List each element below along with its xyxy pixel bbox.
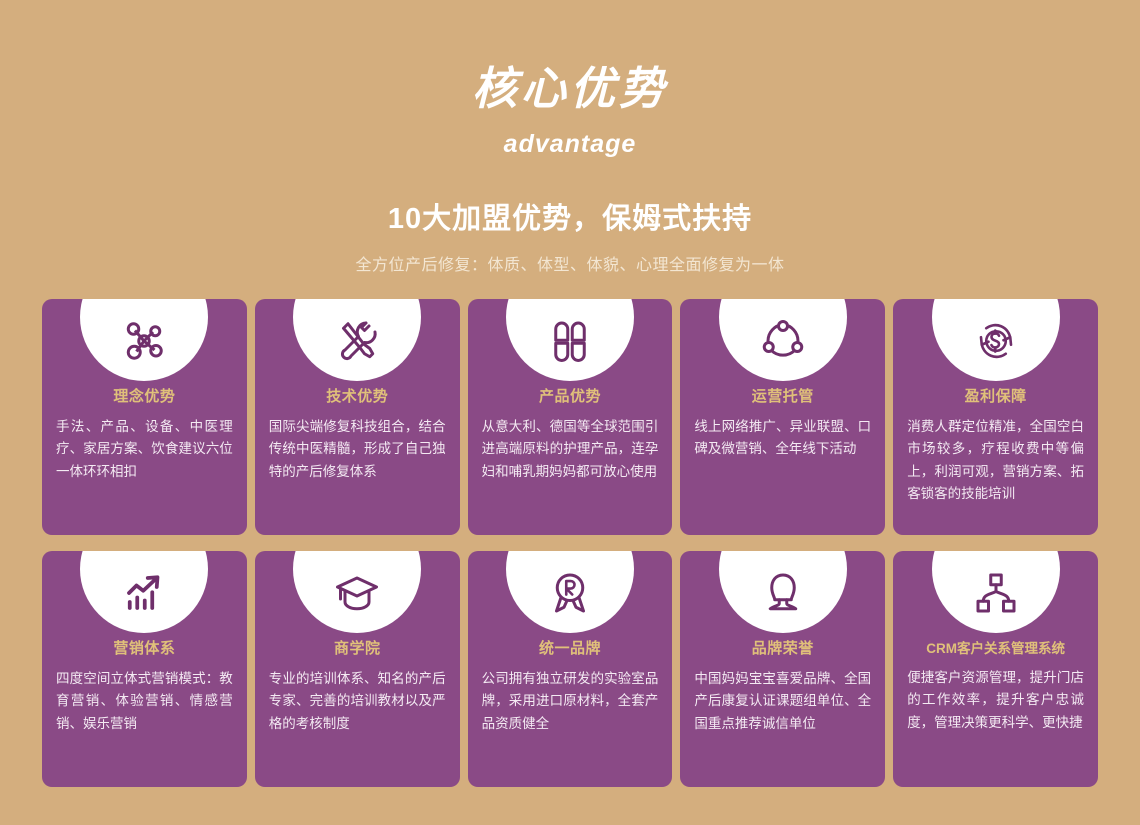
card-description: 线上网络推广、异业联盟、口碑及微营销、全年线下活动 (694, 416, 871, 461)
advantage-card[interactable]: 统一品牌公司拥有独立研发的实验室品牌，采用进口原材料，全套产品资质健全 (468, 551, 673, 787)
female-user-icon (759, 569, 807, 617)
network-nodes-icon (120, 317, 168, 365)
card-icon-well (506, 299, 634, 381)
dollar-refresh-icon (972, 317, 1020, 365)
card-icon-well (293, 299, 421, 381)
advantage-card[interactable]: 运营托管线上网络推广、异业联盟、口碑及微营销、全年线下活动 (680, 299, 885, 535)
card-description: 便捷客户资源管理，提升门店的工作效率，提升客户忠诚度，管理决策更科学、更快捷 (907, 667, 1084, 734)
card-title: 营销体系 (56, 637, 233, 658)
growth-chart-icon (120, 569, 168, 617)
card-description: 专业的培训体系、知名的产后专家、完善的培训教材以及严格的考核制度 (269, 668, 446, 735)
card-title: 理念优势 (56, 385, 233, 406)
advantage-card[interactable]: 盈利保障消费人群定位精准，全国空白市场较多，疗程收费中等偏上，利润可观，营销方案… (893, 299, 1098, 535)
wrench-screwdriver-icon (333, 317, 381, 365)
card-icon-well (80, 299, 208, 381)
card-description: 国际尖端修复科技组合，结合传统中医精髓，形成了自己独特的产后修复体系 (269, 416, 446, 483)
card-description: 公司拥有独立研发的实验室品牌，采用进口原材料，全套产品资质健全 (482, 668, 659, 735)
org-chart-icon (972, 569, 1020, 617)
headline: 10大加盟优势，保姆式扶持 (388, 195, 752, 237)
share-circle-icon (759, 317, 807, 365)
page-title-cn: 核心优势 (472, 66, 668, 111)
card-description: 从意大利、德国等全球范围引进高端原料的护理产品，连孕妇和哺乳期妈妈都可放心使用 (482, 416, 659, 483)
title-badge: 核心优势 advantage (438, 40, 702, 155)
advantage-card-grid: 理念优势手法、产品、设备、中医理疗、家居方案、饮食建议六位一体环环相扣 技术优势… (42, 299, 1098, 787)
card-icon-well (932, 551, 1060, 633)
advantage-card[interactable]: 商学院专业的培训体系、知名的产后专家、完善的培训教材以及严格的考核制度 (255, 551, 460, 787)
advantage-card[interactable]: 品牌荣誉中国妈妈宝宝喜爱品牌、全国产后康复认证课题组单位、全国重点推荐诚信单位 (680, 551, 885, 787)
trademark-badge-icon (546, 569, 594, 617)
advantage-card[interactable]: 产品优势从意大利、德国等全球范围引进高端原料的护理产品，连孕妇和哺乳期妈妈都可放… (468, 299, 673, 535)
card-title: CRM客户关系管理系统 (907, 637, 1084, 657)
card-icon-well (932, 299, 1060, 381)
card-icon-well (719, 299, 847, 381)
card-icon-well (293, 551, 421, 633)
advantage-card[interactable]: 理念优势手法、产品、设备、中医理疗、家居方案、饮食建议六位一体环环相扣 (42, 299, 247, 535)
card-title: 商学院 (269, 637, 446, 658)
page-title-en: advantage (490, 130, 651, 159)
card-description: 中国妈妈宝宝喜爱品牌、全国产后康复认证课题组单位、全国重点推荐诚信单位 (694, 668, 871, 735)
card-icon-well (506, 551, 634, 633)
card-title: 品牌荣誉 (694, 637, 871, 658)
card-title: 产品优势 (482, 385, 659, 406)
card-title: 盈利保障 (907, 385, 1084, 406)
advantage-card[interactable]: CRM客户关系管理系统便捷客户资源管理，提升门店的工作效率，提升客户忠诚度，管理… (893, 551, 1098, 787)
card-title: 技术优势 (269, 385, 446, 406)
card-description: 四度空间立体式营销模式：教育营销、体验营销、情感营销、娱乐营销 (56, 668, 233, 735)
card-icon-well (80, 551, 208, 633)
card-title: 运营托管 (694, 385, 871, 406)
card-description: 消费人群定位精准，全国空白市场较多，疗程收费中等偏上，利润可观，营销方案、拓客锁… (907, 416, 1084, 505)
advantage-card[interactable]: 技术优势国际尖端修复科技组合，结合传统中医精髓，形成了自己独特的产后修复体系 (255, 299, 460, 535)
graduation-cap-icon (333, 569, 381, 617)
card-icon-well (719, 551, 847, 633)
page-header: 核心优势 advantage 10大加盟优势，保姆式扶持 全方位产后修复：体质、… (0, 0, 1140, 275)
advantage-card[interactable]: 营销体系四度空间立体式营销模式：教育营销、体验营销、情感营销、娱乐营销 (42, 551, 247, 787)
card-title: 统一品牌 (482, 637, 659, 658)
card-description: 手法、产品、设备、中医理疗、家居方案、饮食建议六位一体环环相扣 (56, 416, 233, 483)
subheadline: 全方位产后修复：体质、体型、体貌、心理全面修复为一体 (355, 251, 784, 275)
four-petal-flower-icon (546, 317, 594, 365)
